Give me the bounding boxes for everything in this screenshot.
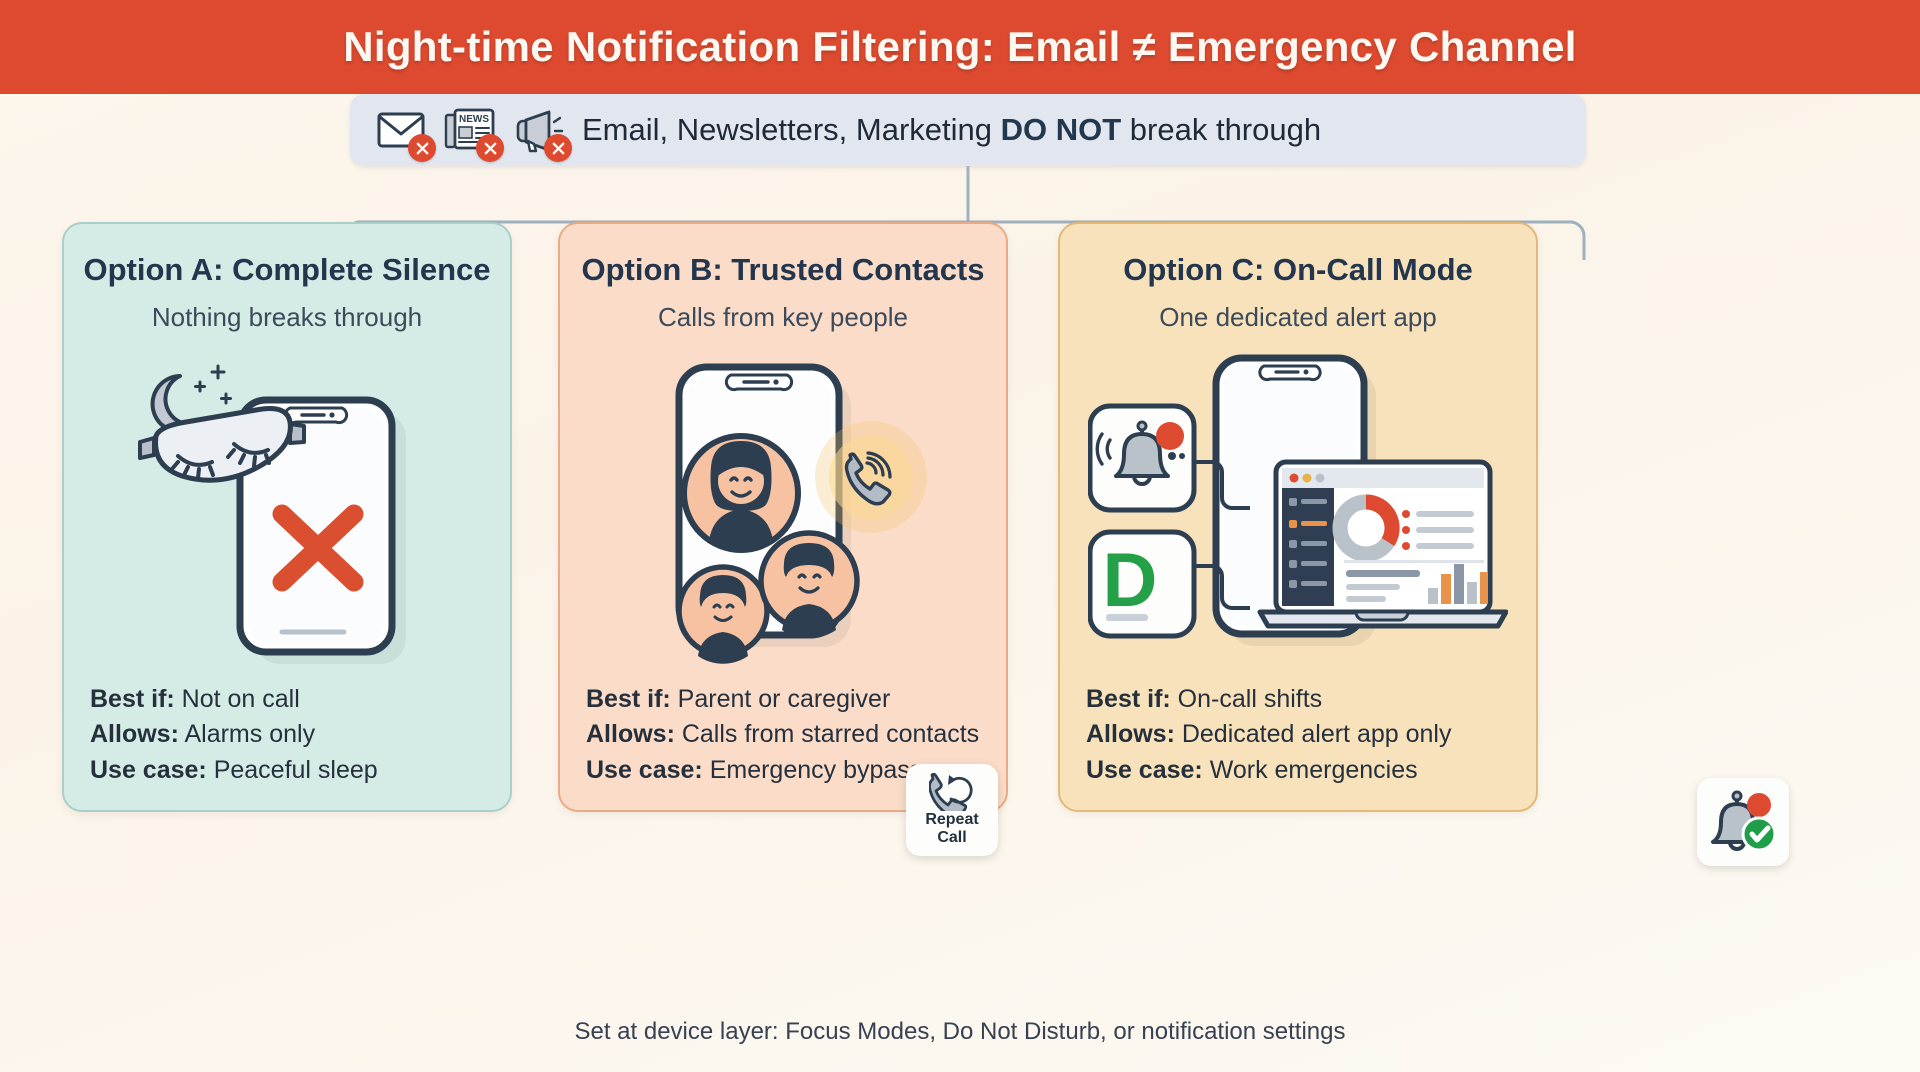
- blocked-channels-pill: NEWS: [350, 94, 1586, 166]
- card-a-fact-best-if: Best if: Not on call: [90, 682, 490, 718]
- fact-value: Work emergencies: [1203, 756, 1418, 784]
- option-card-c[interactable]: Option C: On-Call Mode One dedicated ale…: [1058, 222, 1538, 812]
- pill-text-emphasis: DO NOT: [1001, 112, 1122, 147]
- fact-value: Parent or caregiver: [671, 685, 891, 713]
- alert-approved-badge: [1697, 778, 1789, 866]
- blocked-channels-text: Email, Newsletters, Marketing DO NOT bre…: [582, 112, 1321, 148]
- bell-alert-approved-icon: [1707, 788, 1779, 856]
- card-b-fact-allows: Allows: Calls from starred contacts: [586, 717, 986, 753]
- card-a-facts: Best if: Not on call Allows: Alarms only…: [90, 682, 490, 789]
- option-card-a[interactable]: Option A: Complete Silence Nothing break…: [62, 222, 512, 812]
- fact-value: Dedicated alert app only: [1175, 720, 1452, 748]
- card-c-facts: Best if: On-call shifts Allows: Dedicate…: [1086, 682, 1516, 789]
- trusted-contacts-phone-illustration: [560, 344, 1006, 674]
- header-banner: Night-time Notification Filtering: Email…: [0, 0, 1920, 94]
- fact-value: Calls from starred contacts: [675, 720, 979, 748]
- repeat-call-label-line1: Repeat: [925, 812, 978, 829]
- fact-label: Allows:: [1086, 720, 1175, 748]
- alert-app-letter: D: [1103, 538, 1158, 623]
- fact-label: Use case:: [1086, 756, 1203, 784]
- repeat-call-label-line2: Call: [937, 830, 966, 847]
- fact-value: Peaceful sleep: [207, 756, 378, 784]
- option-card-b[interactable]: Option B: Trusted Contacts Calls from ke…: [558, 222, 1008, 812]
- fact-value: On-call shifts: [1171, 685, 1322, 713]
- blocked-x-badge: [476, 134, 504, 162]
- card-a-subtitle: Nothing breaks through: [64, 302, 510, 333]
- fact-label: Use case:: [90, 756, 207, 784]
- card-c-fact-use-case: Use case: Work emergencies: [1086, 753, 1516, 789]
- card-c-title: Option C: On-Call Mode: [1060, 252, 1536, 288]
- footer-note: Set at device layer: Focus Modes, Do Not…: [0, 1018, 1920, 1046]
- card-c-fact-best-if: Best if: On-call shifts: [1086, 682, 1516, 718]
- envelope-blocked-icon: [376, 106, 430, 154]
- fact-label: Best if:: [1086, 685, 1171, 713]
- fact-value: Emergency bypass: [703, 756, 923, 784]
- repeat-call-icon: [929, 773, 975, 811]
- blocked-x-badge: [408, 134, 436, 162]
- card-b-fact-best-if: Best if: Parent or caregiver: [586, 682, 986, 718]
- blocked-channel-icons: NEWS: [376, 106, 566, 154]
- card-b-subtitle: Calls from key people: [560, 302, 1006, 333]
- fact-label: Use case:: [586, 756, 703, 784]
- blocked-x-badge: [544, 134, 572, 162]
- svg-text:NEWS: NEWS: [459, 114, 489, 125]
- fact-value: Alarms only: [179, 720, 315, 748]
- card-c-fact-allows: Allows: Dedicated alert app only: [1086, 717, 1516, 753]
- fact-label: Allows:: [90, 720, 179, 748]
- fact-label: Best if:: [90, 685, 175, 713]
- card-b-title: Option B: Trusted Contacts: [560, 252, 1006, 288]
- on-call-dashboard-illustration: D: [1060, 344, 1536, 674]
- card-c-subtitle: One dedicated alert app: [1060, 302, 1536, 333]
- pill-text-after: break through: [1121, 112, 1321, 147]
- card-a-fact-use-case: Use case: Peaceful sleep: [90, 753, 490, 789]
- repeat-call-badge: Repeat Call: [906, 764, 998, 856]
- fact-value: Not on call: [175, 685, 300, 713]
- fact-label: Allows:: [586, 720, 675, 748]
- fact-label: Best if:: [586, 685, 671, 713]
- newspaper-blocked-icon: NEWS: [444, 106, 498, 154]
- pill-text-before: Email, Newsletters, Marketing: [582, 112, 1001, 147]
- card-a-title: Option A: Complete Silence: [64, 252, 510, 288]
- page-title: Night-time Notification Filtering: Email…: [343, 23, 1577, 71]
- card-a-fact-allows: Allows: Alarms only: [90, 717, 490, 753]
- megaphone-blocked-icon: [512, 106, 566, 154]
- sleep-mask-phone-illustration: [64, 344, 510, 674]
